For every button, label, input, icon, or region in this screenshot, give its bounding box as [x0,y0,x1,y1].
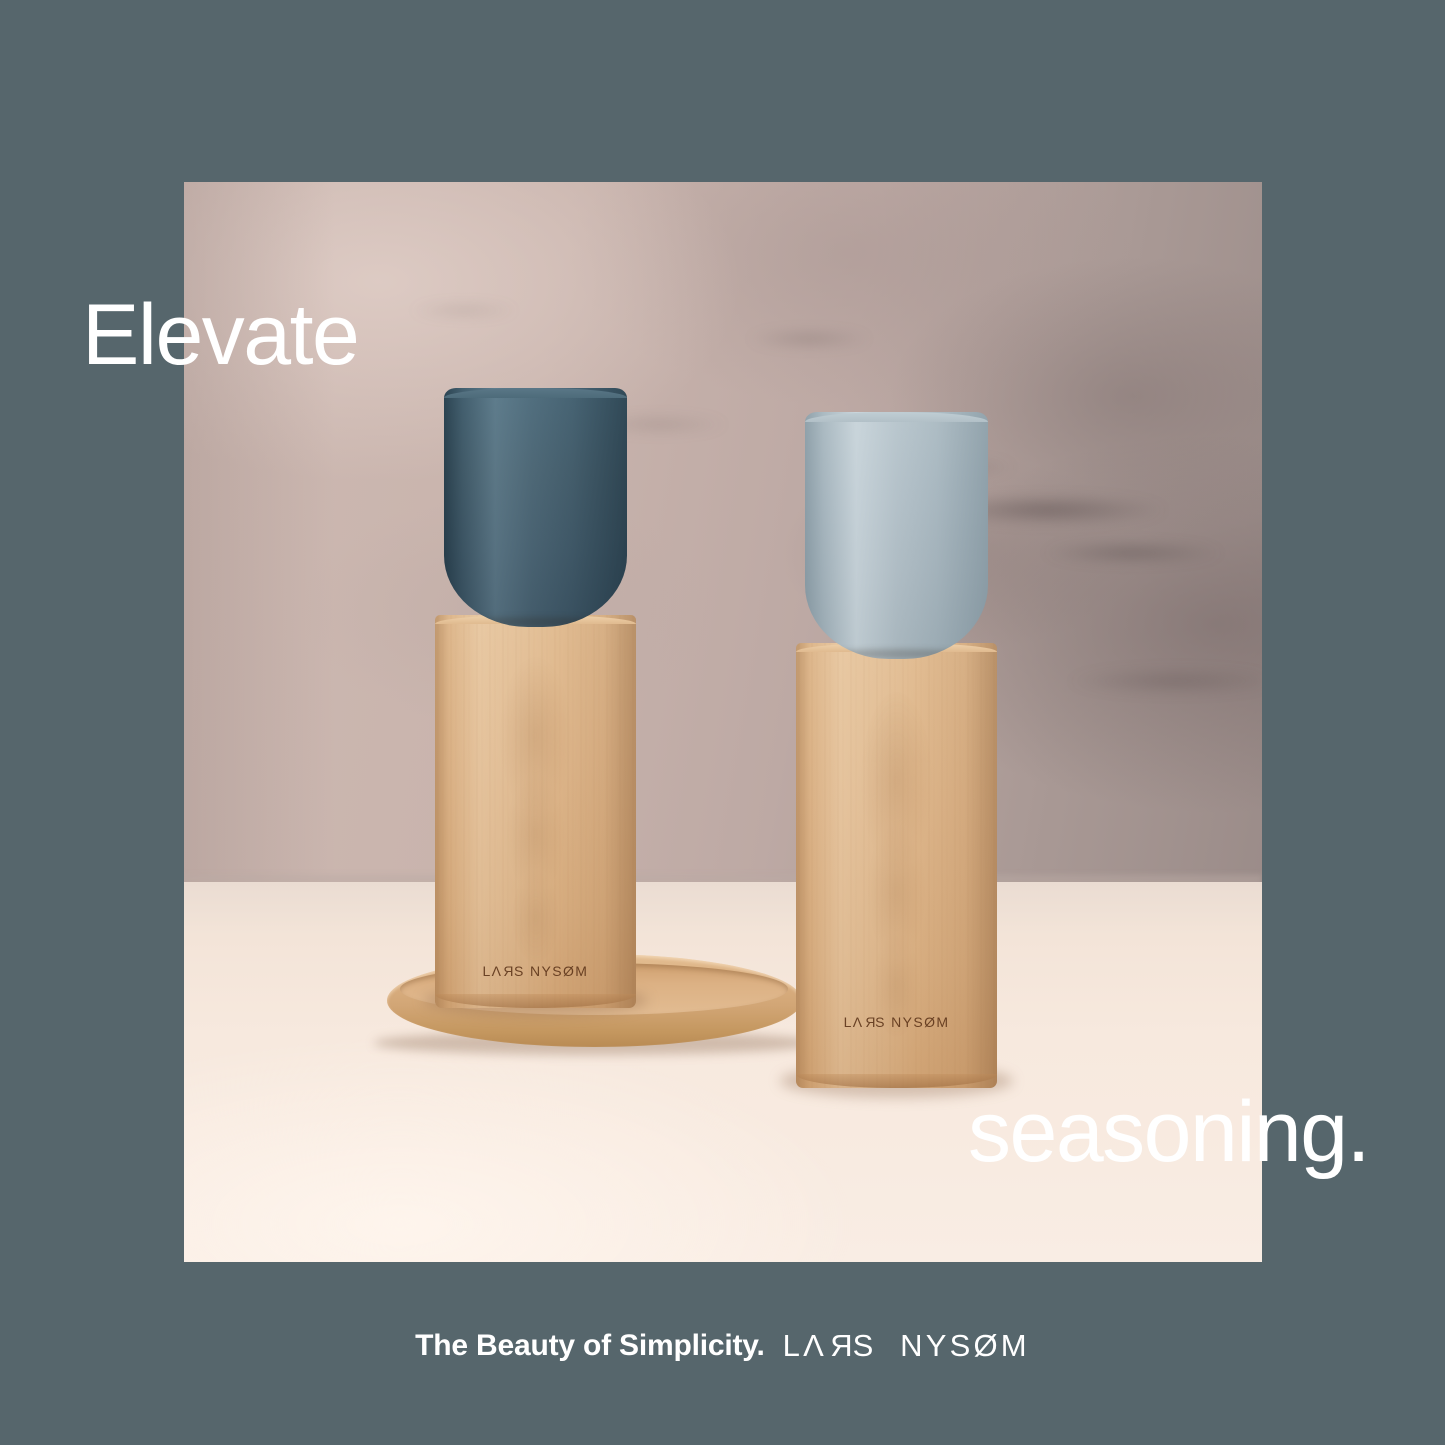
engraving-word-nysom: NYSØM [891,1014,949,1030]
cap-top-surface [805,412,987,422]
grinder-right-wood-body: LΛRS NYSØM [796,643,997,1088]
grinder-left-ceramic-cap [444,388,626,627]
headline-seasoning: seasoning. [968,1089,1369,1175]
engraving-letter-l: L [482,963,491,979]
brand-engraving-right: LΛRS NYSØM [796,1014,997,1030]
cap-neck-shadow [455,617,616,627]
logo-letter-r: R [827,1328,853,1364]
cap-top-surface [444,388,626,398]
engraving-letter-a: Λ [853,1014,864,1030]
logo-word-nysom: NYSØM [900,1328,1030,1363]
footer-bar: The Beauty of Simplicity. LΛRS NYSØM [0,1316,1445,1376]
engraving-letter-r: R [502,963,514,979]
headline-elevate: Elevate [82,292,358,378]
brand-engraving-left: LΛRS NYSØM [435,963,636,979]
brand-logo: LΛRS NYSØM [783,1328,1030,1364]
logo-letter-l: L [783,1328,803,1363]
grinder-right[interactable]: LΛRS NYSØM [796,412,997,1088]
engraving-letter-r: R [864,1014,876,1030]
footer-tagline: The Beauty of Simplicity. [415,1329,765,1363]
grinder-right-ceramic-cap [805,412,987,659]
engraving-letter-a: Λ [492,963,503,979]
wood-cathedral-grain [479,622,591,1000]
logo-letter-s: S [853,1328,877,1363]
cap-neck-shadow [816,649,977,659]
engraving-letter-s: S [514,963,525,979]
grinder-left-wood-body: LΛRS NYSØM [435,615,636,1009]
logo-letter-a: Λ [803,1328,827,1363]
engraving-word-nysom: NYSØM [530,963,588,979]
grinder-left[interactable]: LΛRS NYSØM [435,388,636,1008]
table-surface [184,882,1262,1262]
engraving-letter-s: S [875,1014,886,1030]
ad-canvas: LΛRS NYSØM LΛRS NYSØM [0,0,1445,1445]
engraving-letter-l: L [844,1014,853,1030]
